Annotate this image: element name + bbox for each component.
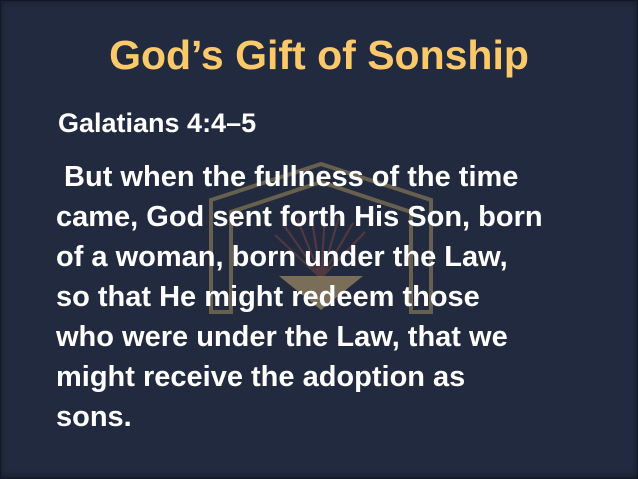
presentation-slide: God’s Gift of Sonship Galatians 4:4–5 Bu… [0,0,638,479]
scripture-verse: But when the fullness of the time came, … [56,157,622,437]
verse-line: might receive the adoption as [56,357,622,397]
verse-line: But when the fullness of the time [56,157,622,197]
scripture-reference: Galatians 4:4–5 [58,110,622,137]
verse-line: sons. [56,397,622,437]
verse-line: so that He might redeem those [56,277,622,317]
verse-line: came, God sent forth His Son, born [56,197,622,237]
slide-title: God’s Gift of Sonship [0,33,638,78]
verse-line: who were under the Law, that we [56,317,622,357]
verse-line: of a woman, born under the Law, [56,237,622,277]
slide-body: Galatians 4:4–5 But when the fullness of… [56,110,622,437]
